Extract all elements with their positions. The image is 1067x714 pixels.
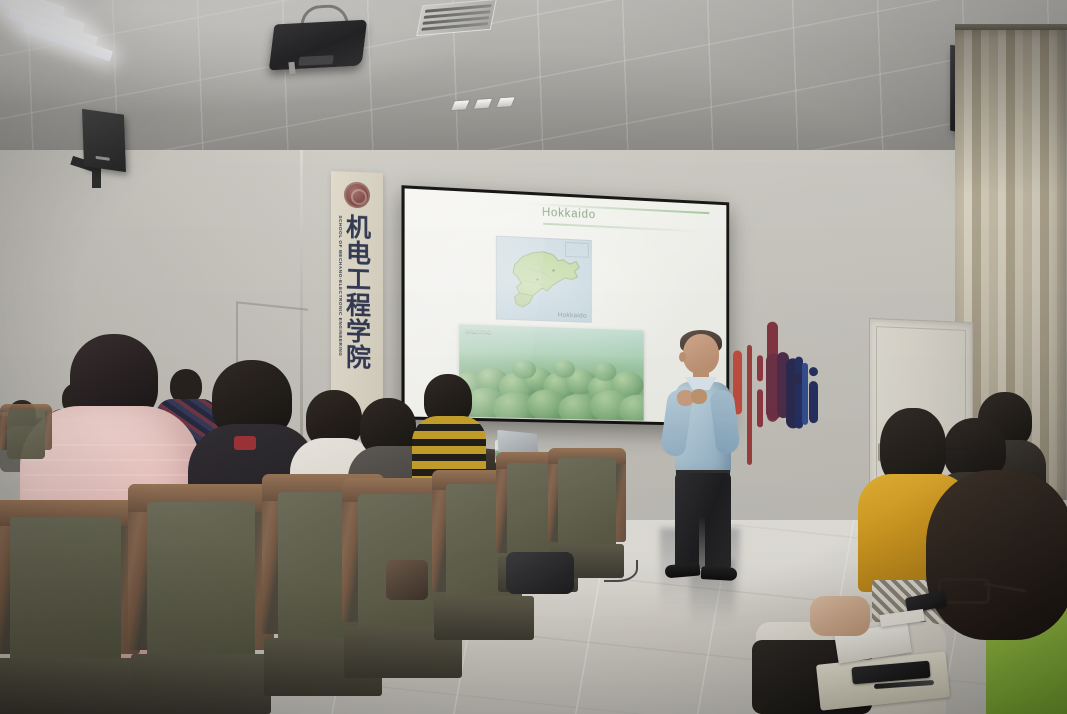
- shirt-emblem: [234, 436, 256, 450]
- logo-bar: [747, 345, 752, 465]
- bag: [506, 552, 574, 594]
- presenter-leg-gap: [699, 516, 705, 570]
- attendee-head: [926, 470, 1067, 640]
- hhi-wall-logo: [733, 316, 829, 469]
- chair: [0, 404, 52, 468]
- logo-bar: [802, 363, 808, 425]
- logo-bar: [757, 355, 763, 381]
- hokkaido-map-image: Hokkaido: [496, 236, 592, 323]
- presenter-head: [683, 334, 719, 374]
- logo-bar: [809, 381, 818, 423]
- ceiling-projector: [269, 20, 367, 71]
- photo-haze: [459, 324, 643, 420]
- bag: [386, 560, 428, 600]
- presenter: [655, 334, 741, 584]
- speaker-bracket: [92, 166, 101, 188]
- university-seal-icon: [344, 182, 370, 209]
- presenter-ear: [679, 352, 686, 362]
- chair: [128, 484, 274, 714]
- presenter-shoe-right: [701, 566, 738, 581]
- chair: [0, 500, 140, 714]
- photo-label: Marimo: [465, 327, 491, 335]
- presenter-shoe-left: [665, 562, 701, 578]
- lecture-hall-photo: Hokkaido Hokkaido: [0, 0, 1067, 714]
- wall-speaker-left: [82, 109, 126, 172]
- banner-chinese-text: 机电工程学院: [344, 214, 371, 371]
- hokkaido-island-shape: [504, 243, 585, 316]
- attendee-legs: [810, 596, 870, 636]
- logo-bar: [757, 389, 763, 427]
- logo-bar: [809, 367, 818, 376]
- map-caption: Hokkaido: [558, 312, 587, 320]
- presenter-hand-right: [691, 389, 707, 404]
- projector-mount-stem: [288, 62, 295, 75]
- marimo-photo: Marimo: [459, 324, 643, 420]
